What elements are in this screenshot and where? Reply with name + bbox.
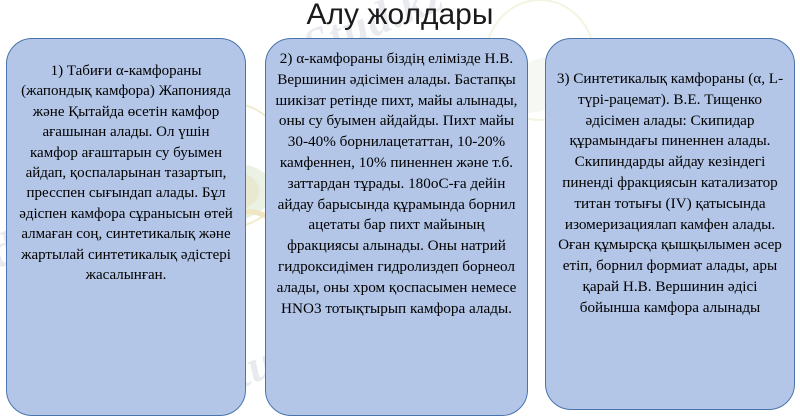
page-title: Алу жолдары <box>0 0 800 32</box>
content-box-3: 3) Синтетикалық камфораны (α, L-түрі-рац… <box>545 38 795 410</box>
content-box-2-text: 2) α-камфораны біздің елімізде Н.В. Верш… <box>275 49 518 319</box>
content-box-1: 1) Табиғи α-камфораны (жапондық камфора)… <box>6 38 246 416</box>
content-box-3-text: 3) Синтетикалық камфораны (α, L-түрі-рац… <box>554 69 786 319</box>
content-box-1-text: 1) Табиғи α-камфораны (жапондық камфора)… <box>17 61 235 285</box>
content-box-2: 2) α-камфораны біздің елімізде Н.В. Верш… <box>265 38 528 416</box>
